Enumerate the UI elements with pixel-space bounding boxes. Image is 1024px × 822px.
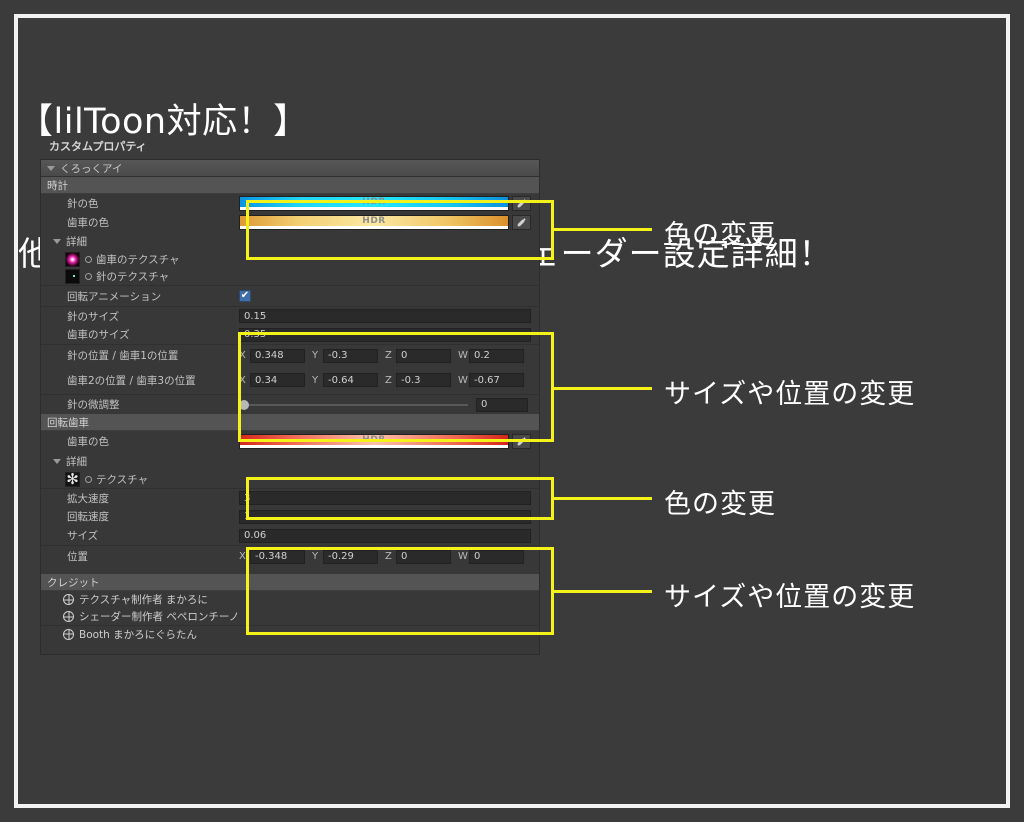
scale-speed-input[interactable]: 3 xyxy=(239,491,531,505)
axis-x-label: X xyxy=(239,551,250,562)
section-header-credits: クレジット xyxy=(41,574,539,591)
credit-item[interactable]: Booth まかろにぐらたん xyxy=(41,625,539,642)
hdr-badge: HDR xyxy=(240,435,508,445)
eyedropper-icon[interactable] xyxy=(512,196,531,211)
row-rot-gear-color: 歯車の色 HDR xyxy=(41,431,539,452)
rot-gear-color-field[interactable]: HDR xyxy=(239,434,509,449)
gear-texture-label: 歯車のテクスチャ xyxy=(96,252,180,267)
rot-gear-details-label: 詳細 xyxy=(66,454,87,469)
credit-item[interactable]: テクスチャ制作者 まかろに xyxy=(41,591,539,608)
position-1-label: 針の位置 / 歯車1の位置 xyxy=(47,348,239,363)
axis-z-label: Z xyxy=(385,350,396,361)
rot-gear-size-input[interactable]: 0.06 xyxy=(239,529,531,543)
rot-gear-position-y-input[interactable]: -0.29 xyxy=(323,550,378,564)
leader-line-colors-2 xyxy=(554,497,652,500)
axis-y-label: Y xyxy=(312,375,323,386)
position-2-label: 歯車2の位置 / 歯車3の位置 xyxy=(47,373,239,388)
leader-line-size-position-2 xyxy=(554,590,652,593)
check-icon: ✔ xyxy=(241,291,249,301)
leader-line-size-position-1 xyxy=(554,387,652,390)
object-picker-icon[interactable] xyxy=(85,273,92,280)
slider-handle[interactable] xyxy=(239,400,249,410)
rot-gear-texture-thumbnail[interactable] xyxy=(65,472,80,487)
hand-fine-tune-slider[interactable] xyxy=(239,404,468,406)
section-header-credits-label: クレジット xyxy=(47,575,100,590)
row-position-2: 歯車2の位置 / 歯車3の位置 X0.34 Y-0.64 Z-0.3 W-0.6… xyxy=(41,366,539,394)
globe-icon xyxy=(63,611,74,622)
position-1-x-input[interactable]: 0.348 xyxy=(250,349,305,363)
spacer xyxy=(41,642,539,654)
row-rotation-speed: 回転速度 1 xyxy=(41,507,539,526)
clock-details-label: 詳細 xyxy=(66,234,87,249)
spacer xyxy=(41,567,539,574)
section-header-rotating-gear: 回転歯車 xyxy=(41,414,539,431)
position-1-vector4: X0.348 Y-0.3 Z0 W0.2 xyxy=(239,349,531,363)
eyedropper-icon[interactable] xyxy=(512,215,531,230)
hand-texture-label: 針のテクスチャ xyxy=(96,269,169,284)
credit-label: Booth まかろにぐらたん xyxy=(79,627,197,642)
hand-fine-tune-input[interactable]: 0 xyxy=(476,398,528,412)
chevron-down-icon xyxy=(53,459,61,464)
hand-size-input[interactable]: 0.15 xyxy=(239,309,531,323)
axis-x-label: X xyxy=(239,350,250,361)
position-2-vector4: X0.34 Y-0.64 Z-0.3 W-0.67 xyxy=(239,373,531,387)
row-hand-texture[interactable]: 針のテクスチャ xyxy=(41,268,539,285)
axis-w-label: W xyxy=(458,350,469,361)
hdr-badge: HDR xyxy=(240,197,508,207)
credit-label: テクスチャ制作者 まかろに xyxy=(79,592,208,607)
hand-texture-thumbnail[interactable] xyxy=(65,269,80,284)
eyedropper-icon[interactable] xyxy=(512,434,531,449)
section-header-rotating-gear-label: 回転歯車 xyxy=(47,415,89,430)
scale-speed-label: 拡大速度 xyxy=(47,491,239,506)
rot-gear-texture-label: テクスチャ xyxy=(96,472,148,487)
row-rot-gear-size: サイズ 0.06 xyxy=(41,526,539,545)
hand-fine-tune-label: 針の微調整 xyxy=(47,397,239,412)
position-2-z-input[interactable]: -0.3 xyxy=(396,373,451,387)
credit-item[interactable]: シェーダー制作者 ペペロンチーノ xyxy=(41,608,539,625)
row-rot-gear-texture[interactable]: テクスチャ xyxy=(41,471,539,488)
annotation-color-change-1: 色の変更 xyxy=(664,213,776,252)
rot-gear-position-vector4: X-0.348 Y-0.29 Z0 W0 xyxy=(239,550,531,564)
row-gear-texture[interactable]: 歯車のテクスチャ xyxy=(41,251,539,268)
foldout-clock-details[interactable]: 詳細 xyxy=(41,232,539,251)
axis-w-label: W xyxy=(458,375,469,386)
row-rotate-animation: 回転アニメーション ✔ xyxy=(41,285,539,306)
slide-root: 【lilToon対応！】 他アバターに使いたい方向けのシェーダー設定詳細！ カス… xyxy=(0,0,1024,822)
unity-inspector-panel: カスタムプロパティ くろっくアイ 時計 針の色 HDR xyxy=(40,138,540,655)
rotation-speed-label: 回転速度 xyxy=(47,509,239,524)
annotation-size-position-1: サイズや位置の変更 xyxy=(664,372,915,411)
rot-gear-position-label: 位置 xyxy=(47,549,239,564)
gear-size-input[interactable]: 0.35 xyxy=(239,328,531,342)
globe-icon xyxy=(63,594,74,605)
object-picker-icon[interactable] xyxy=(85,476,92,483)
annotation-size-position-2: サイズや位置の変更 xyxy=(664,575,915,614)
rot-gear-position-w-input[interactable]: 0 xyxy=(469,550,524,564)
axis-x-label: X xyxy=(239,375,250,386)
leader-line-colors-1 xyxy=(554,228,652,231)
row-gear-size: 歯車のサイズ 0.35 xyxy=(41,325,539,344)
axis-y-label: Y xyxy=(312,350,323,361)
inspector-body: くろっくアイ 時計 針の色 HDR xyxy=(40,159,540,655)
hand-color-field[interactable]: HDR xyxy=(239,196,509,211)
hand-color-alpha-bar xyxy=(240,207,508,210)
hand-color-label: 針の色 xyxy=(47,196,239,211)
chevron-down-icon xyxy=(47,166,55,171)
gear-color-label: 歯車の色 xyxy=(47,215,239,230)
position-1-z-input[interactable]: 0 xyxy=(396,349,451,363)
gear-size-label: 歯車のサイズ xyxy=(47,327,239,342)
hdr-badge: HDR xyxy=(240,216,508,226)
rot-gear-size-label: サイズ xyxy=(47,528,239,543)
annotation-color-change-2: 色の変更 xyxy=(664,482,776,521)
row-hand-color: 針の色 HDR xyxy=(41,194,539,213)
row-scale-speed: 拡大速度 3 xyxy=(41,488,539,507)
row-gear-color: 歯車の色 HDR xyxy=(41,213,539,232)
section-header-clock: 時計 xyxy=(41,177,539,194)
rotate-animation-checkbox[interactable]: ✔ xyxy=(239,290,251,302)
position-2-w-input[interactable]: -0.67 xyxy=(469,373,524,387)
rotate-animation-label: 回転アニメーション xyxy=(47,289,239,304)
rot-gear-position-z-input[interactable]: 0 xyxy=(396,550,451,564)
row-hand-fine-tune: 針の微調整 0 xyxy=(41,394,539,414)
axis-w-label: W xyxy=(458,551,469,562)
object-picker-icon[interactable] xyxy=(85,256,92,263)
credit-label: シェーダー制作者 ペペロンチーノ xyxy=(79,609,239,624)
rot-gear-position-x-input[interactable]: -0.348 xyxy=(250,550,305,564)
rot-gear-color-label: 歯車の色 xyxy=(47,434,239,449)
position-2-x-input[interactable]: 0.34 xyxy=(250,373,305,387)
section-header-clock-label: 時計 xyxy=(47,178,68,193)
custom-property-title: カスタムプロパティ xyxy=(40,138,540,159)
axis-y-label: Y xyxy=(312,551,323,562)
gear-color-alpha-bar xyxy=(240,226,508,229)
position-1-y-input[interactable]: -0.3 xyxy=(323,349,378,363)
axis-z-label: Z xyxy=(385,551,396,562)
foldout-rot-gear-details[interactable]: 詳細 xyxy=(41,452,539,471)
axis-z-label: Z xyxy=(385,375,396,386)
position-1-w-input[interactable]: 0.2 xyxy=(469,349,524,363)
foldout-kurokkuai[interactable]: くろっくアイ xyxy=(41,160,539,177)
rot-gear-color-alpha-bar xyxy=(240,445,508,448)
gear-texture-thumbnail[interactable] xyxy=(65,252,80,267)
hand-size-label: 針のサイズ xyxy=(47,309,239,324)
position-2-y-input[interactable]: -0.64 xyxy=(323,373,378,387)
globe-icon xyxy=(63,629,74,640)
gear-color-field[interactable]: HDR xyxy=(239,215,509,230)
rotation-speed-input[interactable]: 1 xyxy=(239,510,531,524)
row-rot-gear-position: 位置 X-0.348 Y-0.29 Z0 W0 xyxy=(41,545,539,567)
chevron-down-icon xyxy=(53,239,61,244)
foldout-label: くろっくアイ xyxy=(60,161,122,176)
row-hand-size: 針のサイズ 0.15 xyxy=(41,306,539,325)
row-position-1: 針の位置 / 歯車1の位置 X0.348 Y-0.3 Z0 W0.2 xyxy=(41,344,539,366)
